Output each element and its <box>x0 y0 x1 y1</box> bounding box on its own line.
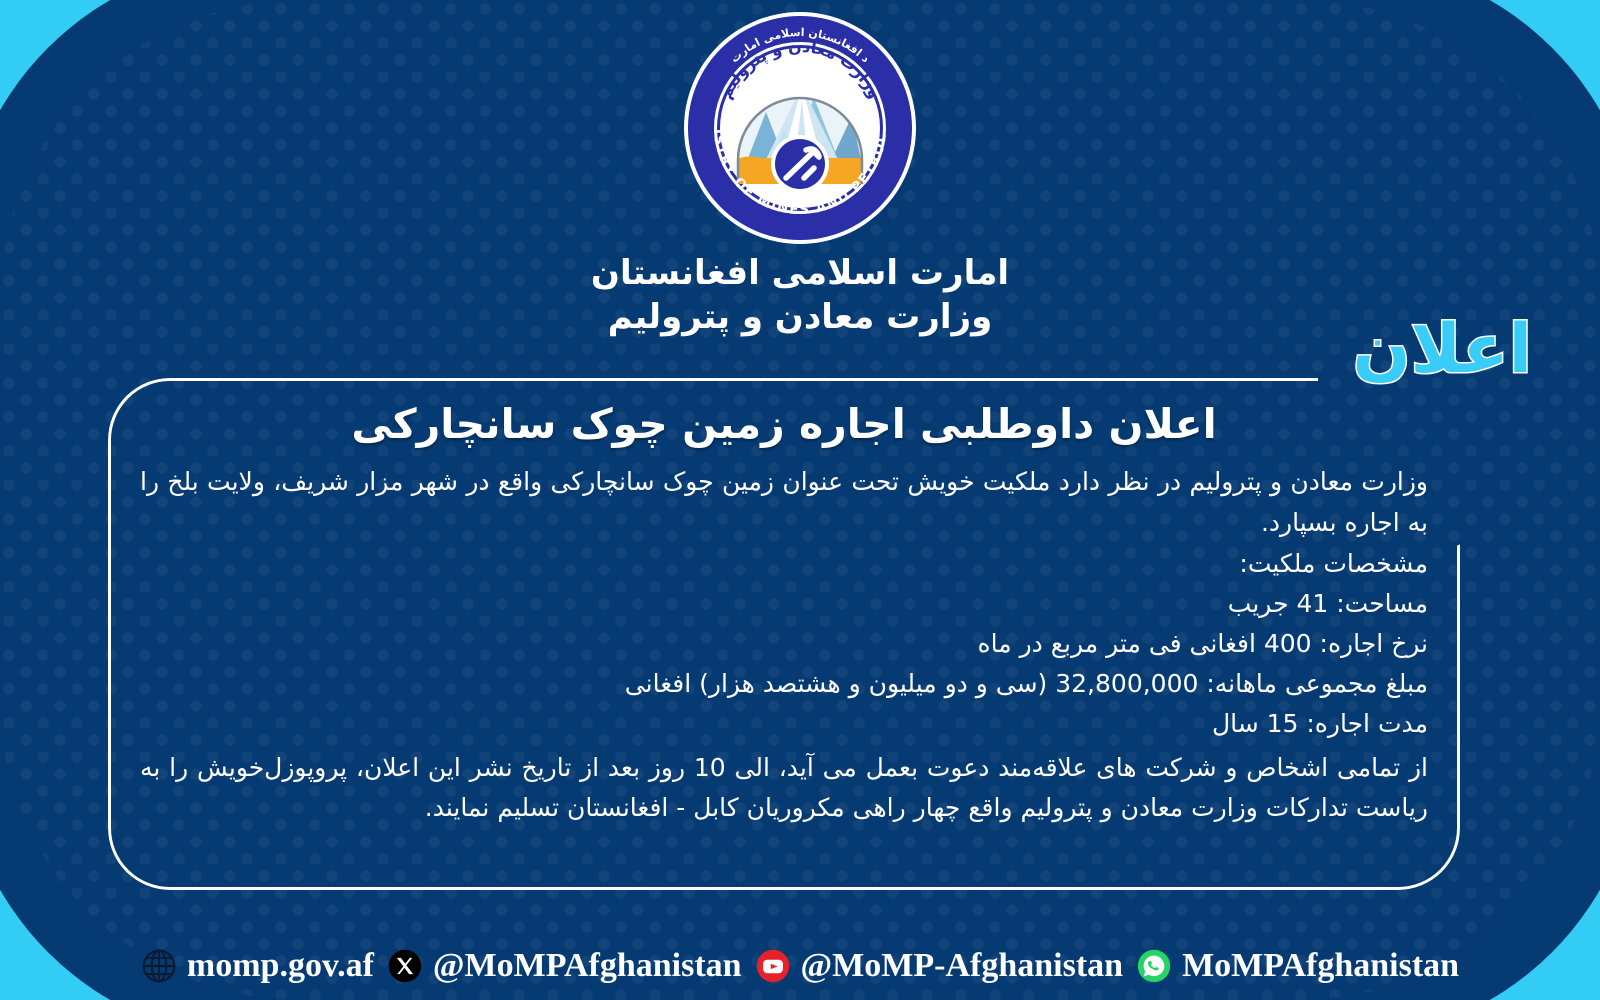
announcement-closing: از تمامی اشخاص و شرکت های علاقه‌مند دعوت… <box>118 748 1450 830</box>
spec-area: مساحت: 41 جریب <box>118 584 1450 624</box>
state-title: امارت اسلامی افغانستان <box>0 252 1600 296</box>
announcement-intro: وزارت معادن و پترولیم در نظر دارد ملکیت … <box>118 462 1450 544</box>
footer-contacts: momp.gov.af @MoMPAfghanistan @MoMP-Afgha… <box>0 948 1600 984</box>
x-twitter-label: @MoMPAfghanistan <box>433 949 742 983</box>
footer-whatsapp[interactable]: MoMPAfghanistan <box>1136 948 1459 984</box>
footer-youtube[interactable]: @MoMP-Afghanistan <box>755 948 1124 984</box>
announcement-body: اعلان داوطلبی اجاره زمین چوک سانچارکی وز… <box>118 400 1450 829</box>
footer-website[interactable]: momp.gov.af <box>141 948 374 984</box>
spec-monthly-total: مبلغ مجموعی ماهانه: 32,800,000 (سی و دو … <box>118 664 1450 704</box>
specs-heading: مشخصات ملکیت: <box>118 544 1450 584</box>
badge-rule <box>1200 378 1318 381</box>
announcement-title: اعلان داوطلبی اجاره زمین چوک سانچارکی <box>118 400 1450 448</box>
announcement-poster: MINISTRY OF MINES AND PETROLEUM د افغانس… <box>0 0 1600 1000</box>
whatsapp-icon <box>1136 948 1172 984</box>
website-label: momp.gov.af <box>187 949 374 983</box>
x-twitter-icon <box>387 948 423 984</box>
globe-icon <box>141 948 177 984</box>
elan-badge: اعلان <box>1353 316 1532 384</box>
youtube-label: @MoMP-Afghanistan <box>801 949 1124 983</box>
spec-rate: نرخ اجاره: 400 افغانی فی متر مربع در ماه <box>118 624 1450 664</box>
spec-duration: مدت اجاره: 15 سال <box>118 704 1450 744</box>
whatsapp-label: MoMPAfghanistan <box>1182 949 1459 983</box>
ministry-logo: MINISTRY OF MINES AND PETROLEUM د افغانس… <box>680 8 920 248</box>
footer-x-twitter[interactable]: @MoMPAfghanistan <box>387 948 742 984</box>
youtube-icon <box>755 948 791 984</box>
